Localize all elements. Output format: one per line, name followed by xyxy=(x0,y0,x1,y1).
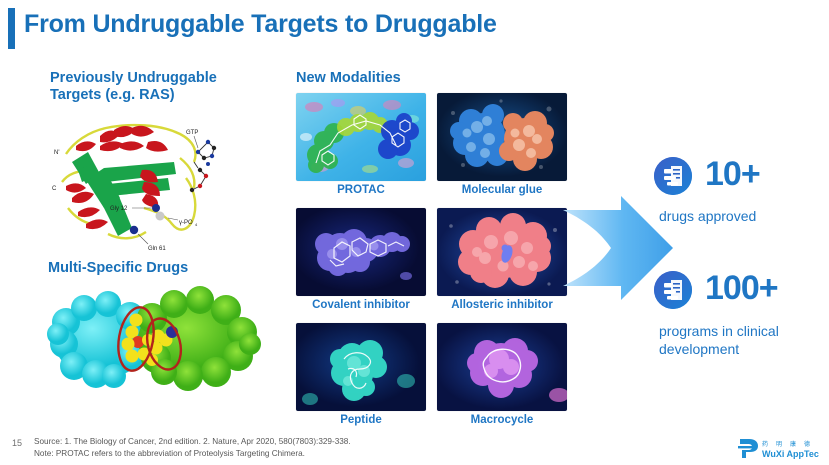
section-heading-multi-specific: Multi-Specific Drugs xyxy=(48,260,188,277)
modality-label-molecular-glue: Molecular glue xyxy=(437,184,567,196)
svg-text:C: C xyxy=(52,186,57,192)
modality-label-covalent-inhibitor: Covalent inhibitor xyxy=(293,299,429,311)
modality-tile-peptide[interactable] xyxy=(296,323,426,411)
modality-label-protac: PROTAC xyxy=(296,184,426,196)
modality-tile-covalent-inhibitor[interactable] xyxy=(296,208,426,296)
svg-text:德: 德 xyxy=(804,440,810,448)
svg-text:Gly 12: Gly 12 xyxy=(110,206,128,212)
section-heading-undruggable: Previously Undruggable Targets (e.g. RAS… xyxy=(50,70,250,104)
svg-text:N': N' xyxy=(54,150,59,156)
document-report-icon-1 xyxy=(654,157,692,195)
multi-specific-drug-figure xyxy=(40,282,270,402)
ras-protein-ribbon-figure: N' C GTP Gly 12 γ-PO 4 Gln 61 xyxy=(48,112,228,254)
modality-label-macrocycle: Macrocycle xyxy=(437,414,567,426)
document-report-icon-2 xyxy=(654,271,692,309)
modality-label-allosteric-inhibitor: Allosteric inhibitor xyxy=(434,299,570,311)
svg-text:WuXi AppTec: WuXi AppTec xyxy=(762,449,819,459)
stat-number-drugs-approved: 10+ xyxy=(705,155,760,194)
svg-text:明: 明 xyxy=(776,441,782,448)
page-title: From Undruggable Targets to Druggable xyxy=(24,10,497,39)
footnote-source: Source: 1. The Biology of Cancer, 2nd ed… xyxy=(34,436,351,448)
svg-text:GTP: GTP xyxy=(186,130,198,136)
page-number: 15 xyxy=(12,438,22,448)
wuxi-apptec-logo: 药明 康德 WuXi AppTec xyxy=(736,436,822,460)
stat-caption-programs: programs in clinical development xyxy=(659,322,824,358)
footnote: Source: 1. The Biology of Cancer, 2nd ed… xyxy=(34,436,351,459)
svg-text:药: 药 xyxy=(762,440,768,448)
modality-tile-protac[interactable] xyxy=(296,93,426,181)
modality-tile-macrocycle[interactable] xyxy=(437,323,567,411)
svg-text:康: 康 xyxy=(790,440,796,448)
modality-tile-molecular-glue[interactable] xyxy=(437,93,567,181)
svg-text:γ-PO: γ-PO xyxy=(179,220,193,226)
modality-label-peptide: Peptide xyxy=(296,414,426,426)
modality-tile-allosteric-inhibitor[interactable] xyxy=(437,208,567,296)
svg-text:Gln 61: Gln 61 xyxy=(148,246,166,252)
stat-number-programs: 100+ xyxy=(705,269,778,308)
footnote-note: Note: PROTAC refers to the abbreviation … xyxy=(34,448,351,460)
stat-caption-drugs-approved: drugs approved xyxy=(659,207,819,225)
section-heading-modalities: New Modalities xyxy=(296,70,401,87)
title-accent-bar xyxy=(8,8,15,49)
